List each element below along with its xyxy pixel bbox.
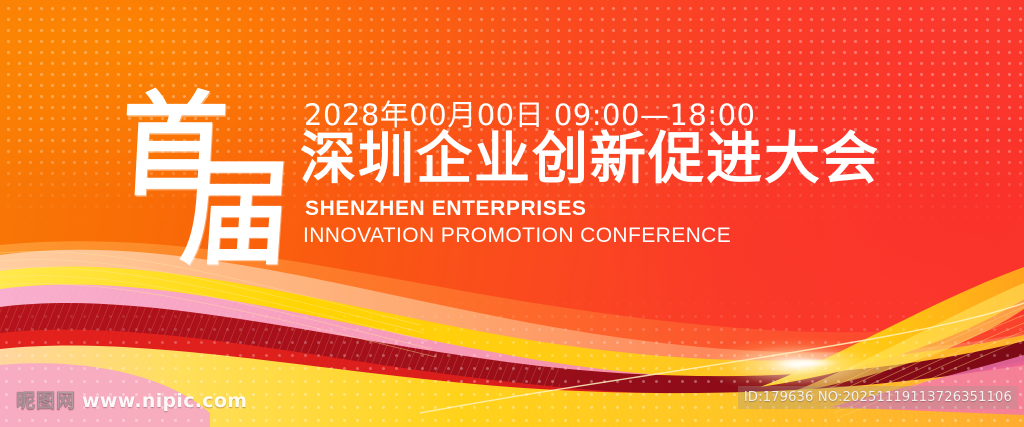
calligraphy-char-jie: 届 [177, 159, 294, 273]
watermark-site-url: www.nipic.com [82, 390, 247, 412]
watermark-id-text: ID:179636 NO:20251119113726351106 [744, 390, 1012, 405]
shou-jie-calligraphy: 首 届 [120, 96, 300, 276]
banner-content: 首 届 2028年00月00日 09:00—18:00 深圳企业创新促进大会 S… [0, 0, 1024, 427]
watermark-branding: 昵图网 www.nipic.com [16, 386, 247, 413]
conference-banner: 首 届 2028年00月00日 09:00—18:00 深圳企业创新促进大会 S… [0, 0, 1024, 427]
subtitle-english-line1: SHENZHEN ENTERPRISES [305, 197, 587, 221]
subtitle-english-line2: INNOVATION PROMOTION CONFERENCE [303, 224, 731, 248]
watermark-site-name: 昵图网 [16, 386, 76, 413]
page-title: 深圳企业创新促进大会 [300, 129, 880, 189]
watermark-id-badge: ID:179636 NO:20251119113726351106 [738, 386, 1018, 409]
